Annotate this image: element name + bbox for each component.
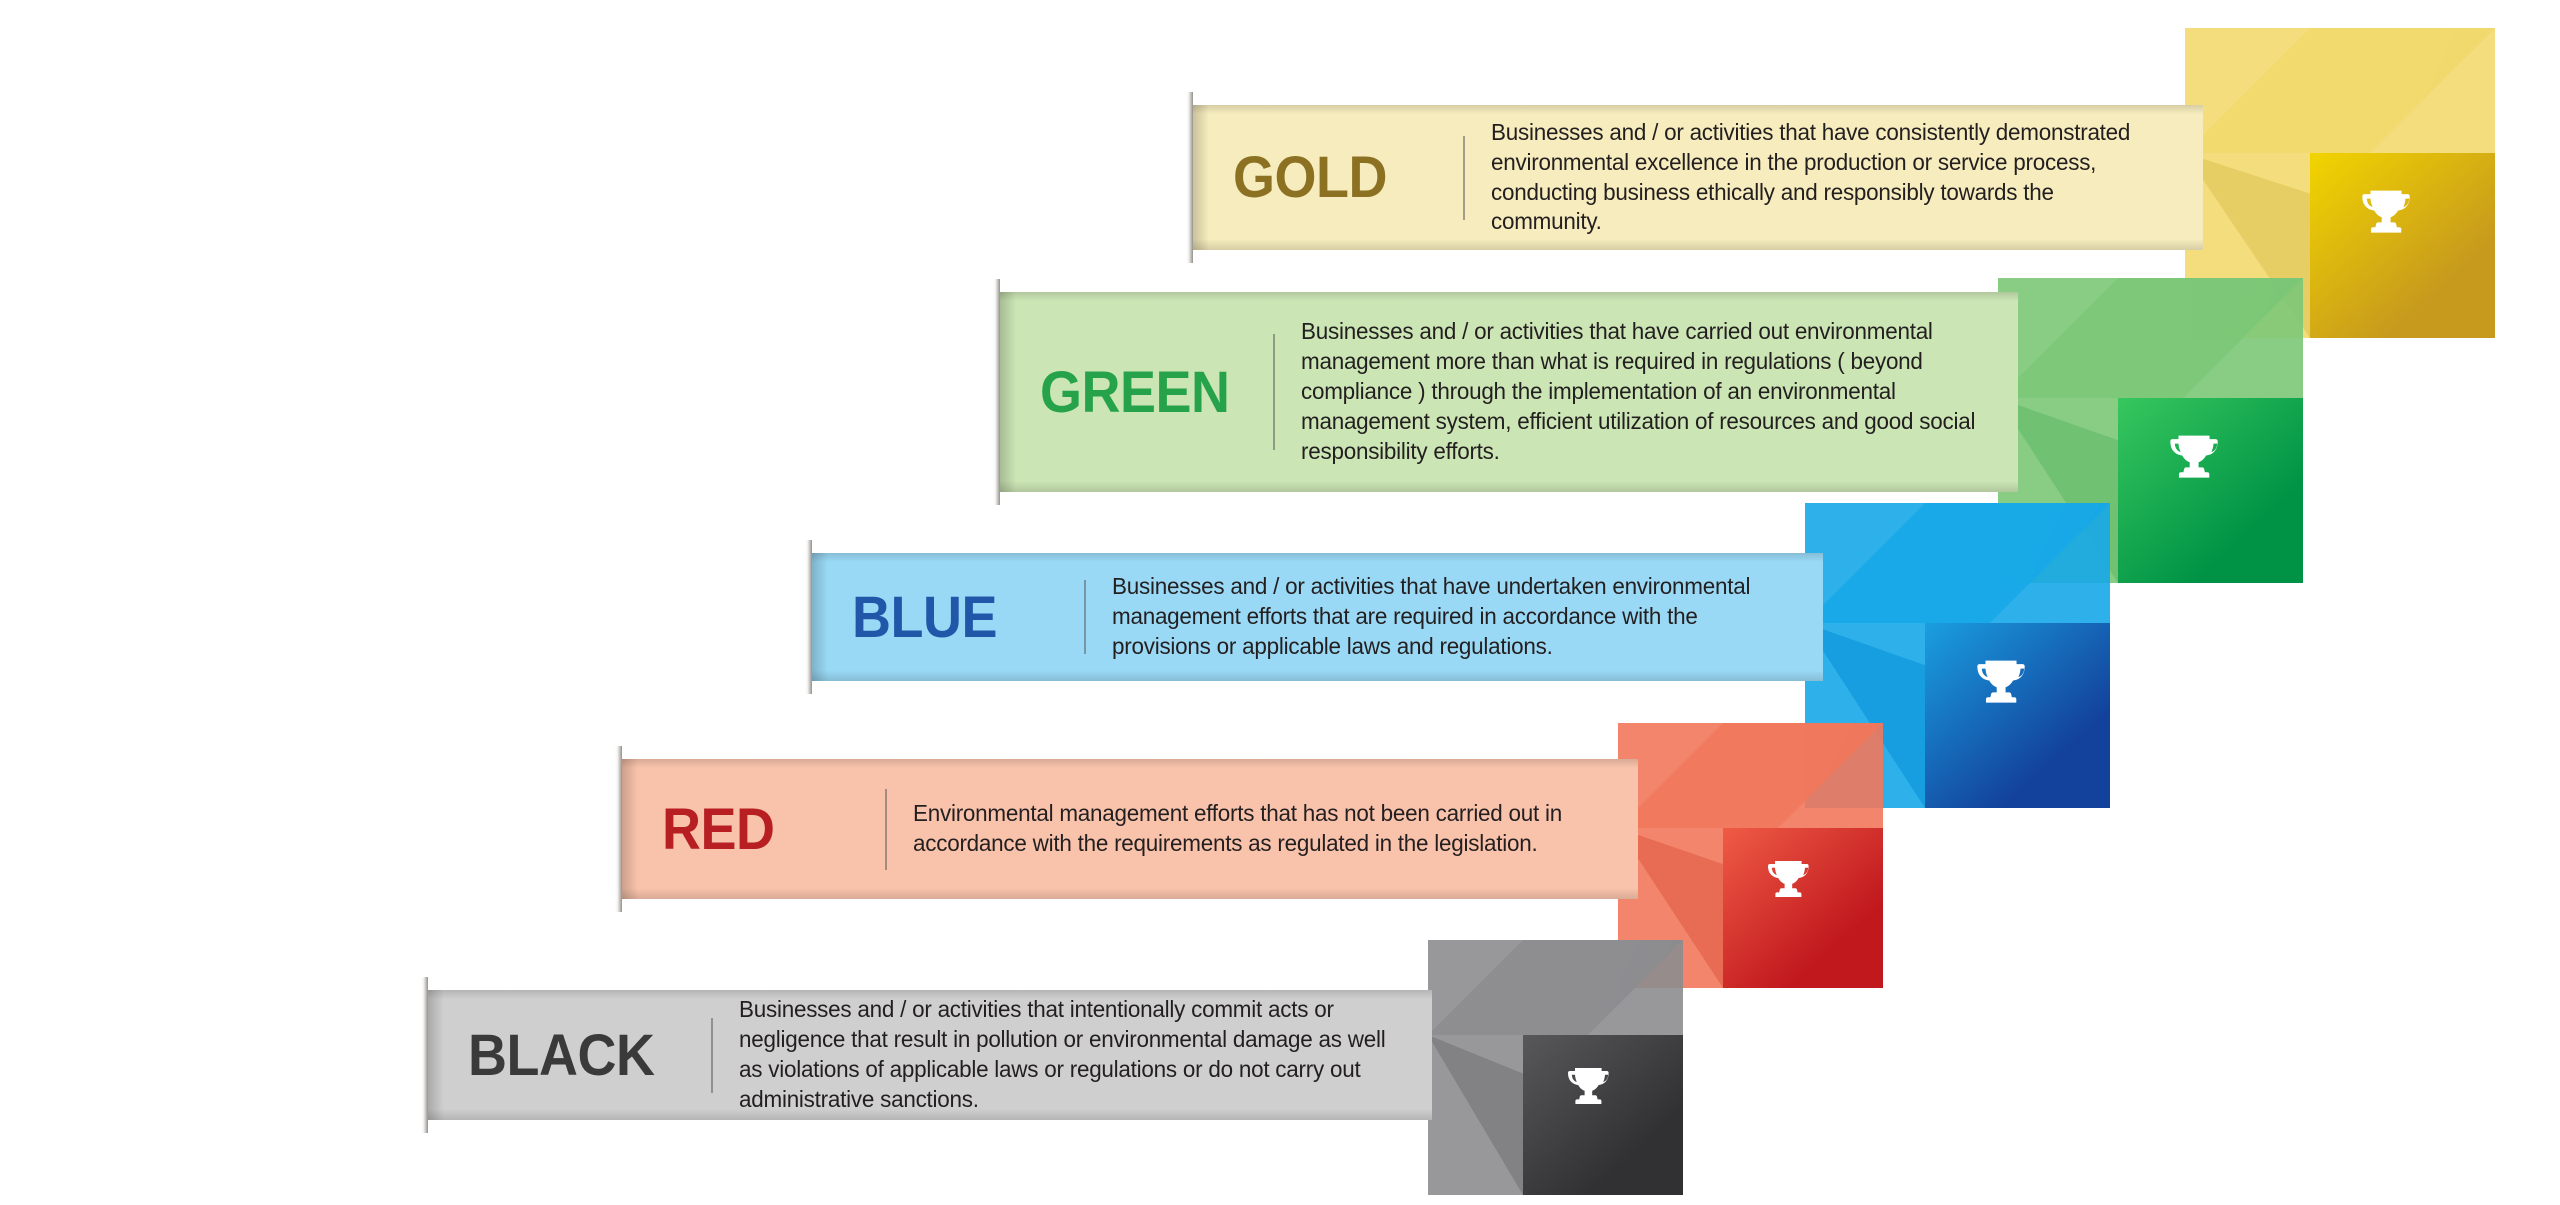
bar-inner-shadow xyxy=(1193,105,1209,250)
trophy-icon xyxy=(1766,857,1814,905)
bar-left-edge-shadow xyxy=(1186,92,1193,263)
cube-front-face xyxy=(1523,1035,1683,1195)
cube-black xyxy=(1428,940,1683,1195)
infographic-canvas: GOLDBusinesses and / or activities that … xyxy=(0,0,2560,1205)
tier-name-red: RED xyxy=(662,796,870,863)
tier-name-gold: GOLD xyxy=(1233,144,1447,211)
bar-top-shadow xyxy=(622,759,1638,768)
bar-bottom-shadow xyxy=(812,670,1823,681)
tier-description-green: Businesses and / or activities that have… xyxy=(1301,317,1986,466)
bar-bottom-shadow xyxy=(622,888,1638,899)
tier-divider xyxy=(1273,334,1275,450)
tier-name-green: GREEN xyxy=(1040,359,1256,426)
bar-green: GREENBusinesses and / or activities that… xyxy=(1000,292,2018,492)
bar-left-edge-shadow xyxy=(993,279,1000,505)
bar-gold: GOLDBusinesses and / or activities that … xyxy=(1193,105,2203,250)
bar-blue: BLUEBusinesses and / or activities that … xyxy=(812,553,1823,681)
tier-description-blue: Businesses and / or activities that have… xyxy=(1112,572,1791,662)
bar-top-shadow xyxy=(1000,292,2018,301)
tier-divider xyxy=(1084,580,1086,654)
tier-name-black: BLACK xyxy=(468,1022,694,1089)
cube-front-face xyxy=(1925,623,2110,808)
tier-name-blue: BLUE xyxy=(852,584,1068,651)
cube-front-face xyxy=(2310,153,2495,338)
tier-divider xyxy=(711,1018,713,1093)
tier-divider xyxy=(1463,136,1465,220)
bar-red: REDEnvironmental management efforts that… xyxy=(622,759,1638,899)
bar-black: BLACKBusinesses and / or activities that… xyxy=(428,990,1432,1120)
bar-inner-shadow xyxy=(622,759,638,899)
trophy-icon xyxy=(1975,656,2031,712)
tier-divider xyxy=(885,789,887,870)
tier-description-black: Businesses and / or activities that inte… xyxy=(739,995,1401,1114)
bar-inner-shadow xyxy=(428,990,444,1120)
cube-front-face xyxy=(2118,398,2303,583)
bar-top-shadow xyxy=(812,553,1823,562)
bar-left-edge-shadow xyxy=(805,540,812,694)
bar-top-shadow xyxy=(1193,105,2203,114)
bar-inner-shadow xyxy=(812,553,828,681)
trophy-icon xyxy=(2168,431,2224,487)
tier-description-gold: Businesses and / or activities that have… xyxy=(1491,118,2160,237)
bar-left-edge-shadow xyxy=(615,746,622,912)
bar-left-edge-shadow xyxy=(421,977,428,1133)
trophy-icon xyxy=(1566,1064,1614,1112)
tier-description-red: Environmental management efforts that ha… xyxy=(913,799,1605,859)
bar-bottom-shadow xyxy=(1000,481,2018,492)
trophy-icon xyxy=(2360,186,2416,242)
bar-inner-shadow xyxy=(1000,292,1016,492)
bar-bottom-shadow xyxy=(1193,239,2203,250)
cube-front-face xyxy=(1723,828,1883,988)
